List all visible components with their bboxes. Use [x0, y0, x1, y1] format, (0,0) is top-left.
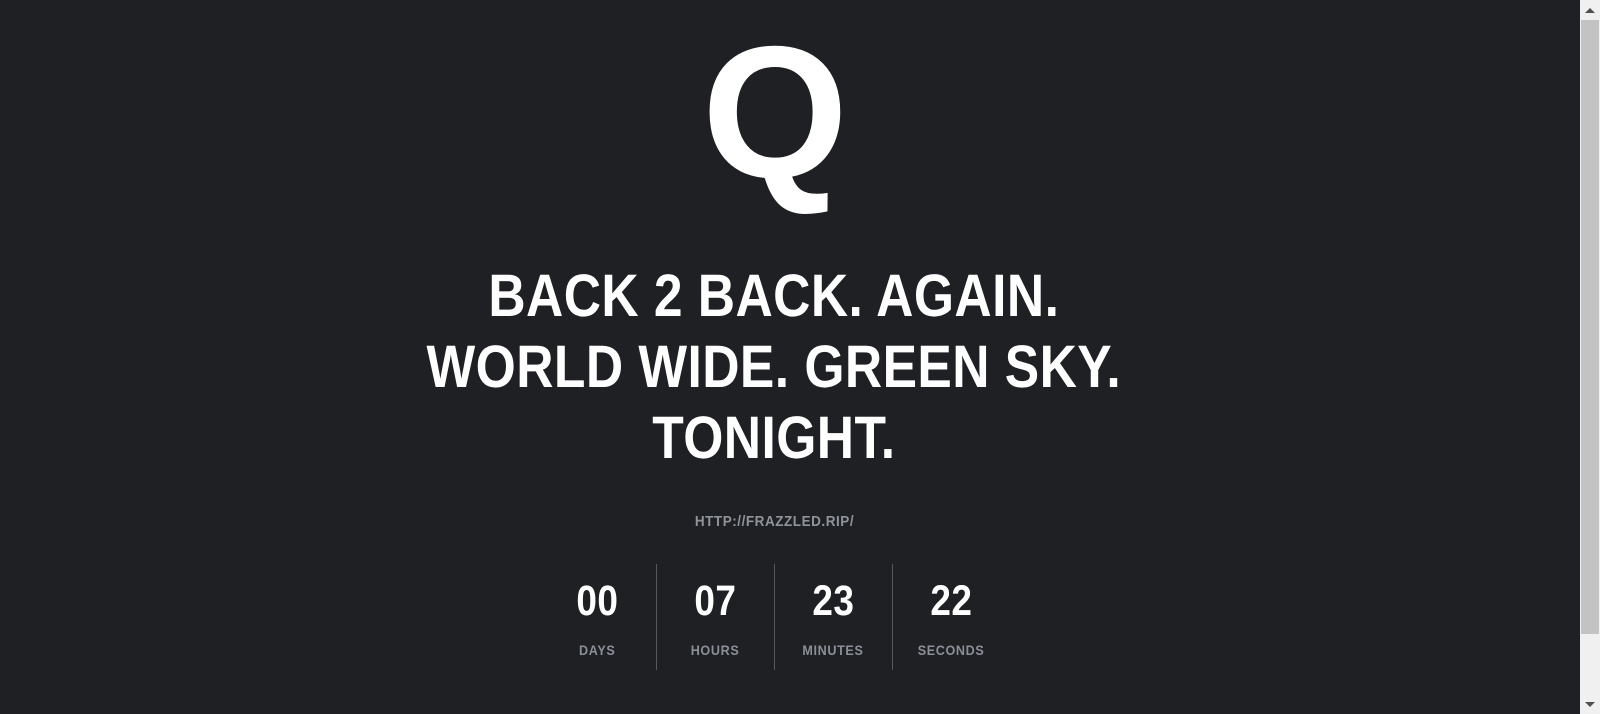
- vertical-scrollbar[interactable]: [1580, 0, 1600, 714]
- headline-line-1: BACK 2 BACK. AGAIN.: [427, 260, 1122, 331]
- countdown-unit-minutes: 23 MINUTES: [774, 564, 892, 666]
- scrollbar-thumb[interactable]: [1581, 20, 1599, 634]
- countdown-value-minutes: 23: [812, 578, 854, 624]
- countdown-label-minutes: MINUTES: [802, 642, 863, 658]
- countdown-unit-hours: 07 HOURS: [656, 564, 774, 666]
- q-logo-icon: Q: [702, 35, 846, 189]
- countdown-label-seconds: SECONDS: [918, 642, 985, 658]
- scroll-up-button[interactable]: [1580, 0, 1600, 20]
- scroll-down-button[interactable]: [1580, 694, 1600, 714]
- countdown-timer: 00 DAYS 07 HOURS 23 MINUTES 22 SECONDS: [538, 564, 1010, 666]
- headline-line-2: WORLD WIDE. GREEN SKY.: [427, 331, 1122, 402]
- countdown-label-days: DAYS: [579, 642, 615, 658]
- countdown-unit-seconds: 22 SECONDS: [892, 564, 1010, 666]
- logo-container: Q: [702, 42, 846, 182]
- headline-line-3: TONIGHT.: [427, 402, 1122, 473]
- browser-viewport: Q BACK 2 BACK. AGAIN. WORLD WIDE. GREEN …: [0, 0, 1600, 714]
- countdown-value-days: 00: [576, 578, 618, 624]
- countdown-value-hours: 07: [694, 578, 736, 624]
- countdown-value-seconds: 22: [930, 578, 972, 624]
- page-inner-container: Q BACK 2 BACK. AGAIN. WORLD WIDE. GREEN …: [0, 0, 1548, 714]
- chevron-up-icon: [1585, 8, 1595, 13]
- chevron-down-icon: [1585, 702, 1595, 707]
- countdown-label-hours: HOURS: [691, 642, 740, 658]
- site-url-link[interactable]: HTTP://FRAZZLED.RIP/: [694, 513, 853, 530]
- page-title: BACK 2 BACK. AGAIN. WORLD WIDE. GREEN SK…: [427, 182, 1122, 473]
- page-content: Q BACK 2 BACK. AGAIN. WORLD WIDE. GREEN …: [0, 0, 1580, 714]
- countdown-unit-days: 00 DAYS: [538, 564, 656, 666]
